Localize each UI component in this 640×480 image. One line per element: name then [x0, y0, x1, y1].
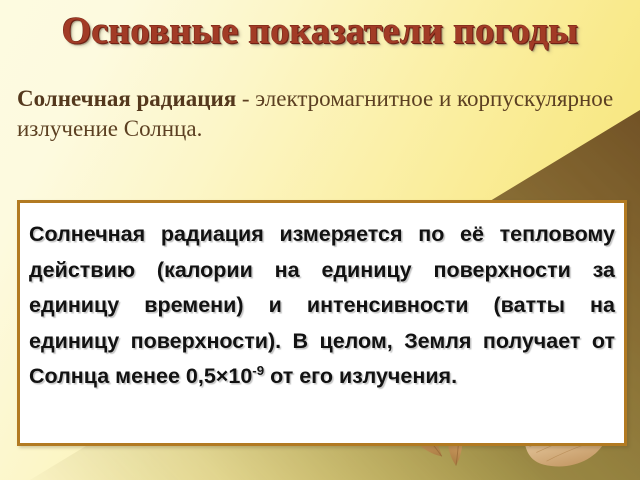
slide: Основные показатели погоды Солнечная рад…: [0, 0, 640, 480]
page-title: Основные показатели погоды: [0, 8, 640, 54]
content-exponent: -9: [252, 363, 264, 378]
content-part-2: от его излучения.: [264, 364, 457, 388]
subtitle-term: Солнечная радиация: [17, 86, 236, 111]
content-box: Солнечная радиация измеряется по её тепл…: [17, 200, 627, 446]
content-paragraph: Солнечная радиация измеряется по её тепл…: [29, 217, 615, 395]
subtitle-paragraph: Солнечная радиация - электромагнитное и …: [17, 84, 623, 144]
